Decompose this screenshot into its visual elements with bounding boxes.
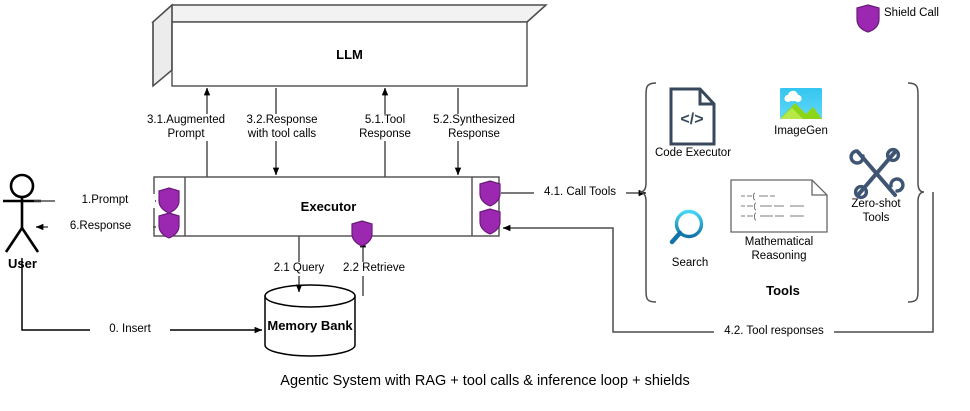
shield-exec-in-left-top	[159, 188, 179, 213]
tool-label-code-executor[interactable]: Code Executor	[644, 146, 742, 160]
llm-node[interactable]	[153, 5, 546, 86]
edge-label-tool-response: 5.1.Tool Response	[345, 114, 425, 141]
tool-label-math-reasoning[interactable]: Mathematical Reasoning	[729, 235, 829, 263]
memory-bank-label: Memory Bank	[265, 318, 355, 333]
shield-exec-in-left-bottom	[159, 213, 179, 238]
shield-exec-right-top	[480, 181, 500, 206]
crossed-wrenches-icon	[851, 150, 903, 198]
edge-label-synthesized-response: 5.2.Synthesized Response	[424, 114, 524, 141]
edge-insert	[22, 258, 262, 330]
diagram-canvas: </>	[0, 0, 970, 411]
edge-label-insert: 0. Insert	[90, 323, 170, 337]
shield-exec-memory	[352, 221, 372, 246]
legend-shield-icon	[857, 5, 879, 32]
shield-exec-right-bottom	[480, 209, 500, 234]
edge-label-call-tools: 4.1. Call Tools	[534, 186, 626, 200]
tool-label-imagegen[interactable]: ImageGen	[766, 124, 836, 138]
user-actor[interactable]	[3, 175, 41, 252]
svg-text:</>: </>	[680, 111, 703, 128]
tools-group-label: Tools	[740, 283, 826, 298]
legend-label: Shield Call	[884, 7, 939, 19]
edge-label-query: 2.1 Query	[261, 262, 337, 276]
magnifier-icon	[672, 212, 702, 243]
tool-label-search[interactable]: Search	[659, 256, 721, 270]
executor-label: Executor	[185, 199, 472, 214]
llm-label: LLM	[172, 47, 527, 62]
edge-label-prompt: 1.Prompt	[55, 194, 155, 208]
diagram-caption: Agentic System with RAG + tool calls & i…	[0, 373, 970, 389]
edge-label-response-tool-calls: 3.2.Response with tool calls	[233, 114, 331, 141]
edge-label-tool-responses: 4.2. Tool responses	[714, 325, 834, 339]
edge-label-retrieve: 2.2 Retrieve	[330, 262, 418, 276]
edge-label-augmented-prompt: 3.1.Augmented Prompt	[140, 114, 232, 141]
formula-document-icon	[731, 180, 827, 232]
code-document-icon: </>	[671, 89, 714, 144]
tool-label-zero-shot-tools[interactable]: Zero-shot Tools	[840, 197, 912, 225]
user-label: User	[0, 256, 45, 271]
edge-label-response: 6.Response	[48, 220, 153, 234]
image-picture-icon	[780, 88, 822, 119]
